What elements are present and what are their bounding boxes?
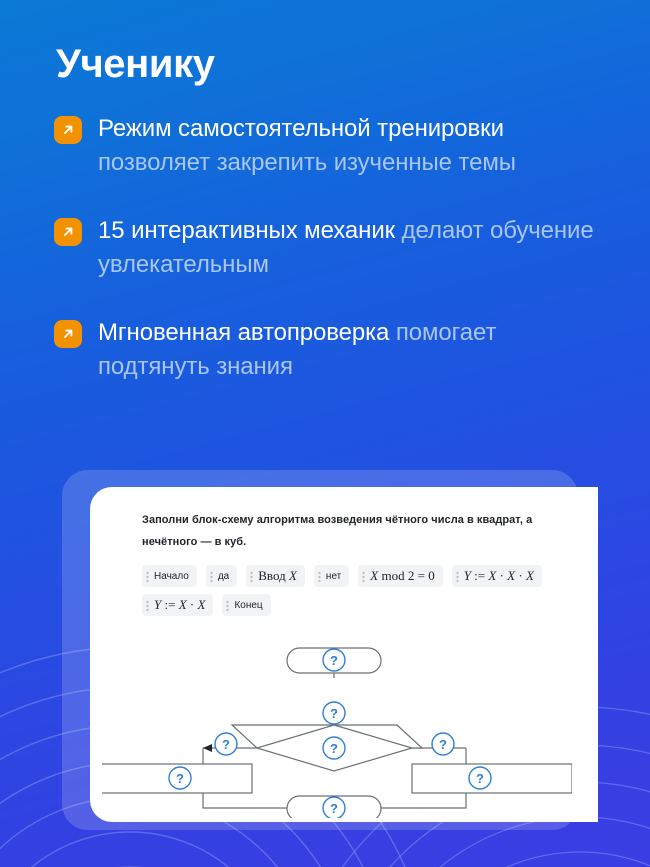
flow-slot-label: ?	[330, 653, 338, 668]
arrow-up-right-icon	[54, 218, 82, 246]
drag-handle-icon	[318, 571, 321, 582]
flow-slot-label: ?	[476, 771, 484, 786]
list-item: Мгновенная автопроверка помогает подтяну…	[54, 316, 614, 384]
poster: Ученику Режим самостоятельной тренировки…	[0, 0, 650, 867]
token-label: да	[218, 571, 229, 582]
drag-handle-icon	[362, 571, 365, 582]
list-item-text: Мгновенная автопроверка помогает подтяну…	[98, 316, 614, 384]
flow-slot-process-left: ?	[169, 767, 191, 789]
list-item-emphasis: Мгновенная автопроверка	[98, 319, 389, 346]
list-item-emphasis: 15 интерактивных механик	[98, 217, 395, 244]
flow-slot-label: ?	[330, 706, 338, 721]
drag-handle-icon	[146, 571, 149, 582]
flow-slot-terminator-start: ?	[323, 649, 345, 671]
drag-handle-icon	[456, 571, 459, 582]
token-chip[interactable]: Y := X · X · X	[452, 565, 542, 587]
list-item-text: 15 интерактивных механик делают обучение…	[98, 214, 614, 282]
benefit-list: Режим самостоятельной тренировки позволя…	[54, 112, 614, 418]
token-label: Y := X · X · X	[464, 568, 534, 584]
flow-slot-label: ?	[176, 771, 184, 786]
token-chip[interactable]: нет	[314, 565, 349, 587]
task-instruction: Заполни блок-схему алгоритма возведения …	[142, 509, 574, 553]
token-chip[interactable]: Y := X · X	[142, 594, 213, 616]
flow-slot-process-right: ?	[469, 767, 491, 789]
flow-slot-label: ?	[330, 741, 338, 756]
token-chip[interactable]: Ввод X	[246, 565, 305, 587]
flow-slot-label: ?	[330, 801, 338, 816]
list-item-emphasis: Режим самостоятельной тренировки	[98, 115, 504, 142]
token-label: Конец	[234, 600, 262, 611]
token-chip[interactable]: X mod 2 = 0	[358, 565, 442, 587]
flow-slot-io-input: ?	[323, 702, 345, 724]
arrow-up-right-icon	[54, 116, 82, 144]
exercise-card: Заполни блок-схему алгоритма возведения …	[90, 487, 598, 822]
token-label: X mod 2 = 0	[370, 568, 434, 584]
token-bank: Начало да Ввод X нет X mod 2 = 0	[142, 565, 542, 616]
list-item: Режим самостоятельной тренировки позволя…	[54, 112, 614, 180]
drag-handle-icon	[210, 571, 213, 582]
list-item-text: Режим самостоятельной тренировки позволя…	[98, 112, 614, 180]
token-chip[interactable]: Конец	[222, 594, 270, 616]
drag-handle-icon	[146, 600, 149, 611]
list-item-rest: позволяет закрепить изученные темы	[98, 149, 516, 176]
flowchart: ? ? ? ?	[102, 630, 534, 818]
flow-slot-branch-left: ?	[215, 733, 237, 755]
token-label: нет	[326, 571, 341, 582]
flow-slot-decision: ?	[323, 737, 345, 759]
page-title: Ученику	[56, 42, 215, 87]
token-chip[interactable]: Начало	[142, 565, 197, 587]
flow-slot-branch-right: ?	[432, 733, 454, 755]
token-chip[interactable]: да	[206, 565, 237, 587]
flow-slot-label: ?	[222, 737, 230, 752]
flow-slot-label: ?	[439, 737, 447, 752]
list-item: 15 интерактивных механик делают обучение…	[54, 214, 614, 282]
token-label: Ввод X	[258, 568, 297, 584]
token-label: Начало	[154, 571, 189, 582]
drag-handle-icon	[250, 571, 253, 582]
arrow-up-right-icon	[54, 320, 82, 348]
token-label: Y := X · X	[154, 597, 205, 613]
flow-slot-terminator-end: ?	[323, 797, 345, 818]
drag-handle-icon	[226, 600, 229, 611]
